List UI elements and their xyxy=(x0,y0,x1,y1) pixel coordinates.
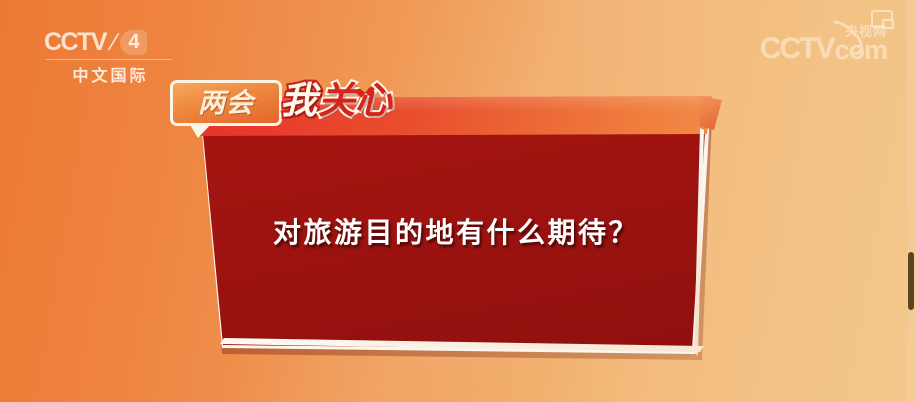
title-headline-first: 我 xyxy=(280,82,317,119)
question-text: 对旅游目的地有什么期待？ xyxy=(236,196,676,266)
heart-icon xyxy=(359,85,371,96)
scrollbar-thumb[interactable] xyxy=(908,252,914,310)
title-bubble-text: 两会 xyxy=(198,90,254,117)
title-headline-rest: 关心 xyxy=(318,82,392,119)
vertical-scrollbar[interactable] xyxy=(907,0,915,402)
title-headline: 我 关心 xyxy=(280,82,392,119)
card-corner-fold xyxy=(700,96,726,130)
question-card: 对旅游目的地有什么期待？ xyxy=(0,0,915,402)
title-speech-bubble: 两会 xyxy=(170,80,282,126)
program-title: 两会 我 关心 xyxy=(170,80,392,136)
